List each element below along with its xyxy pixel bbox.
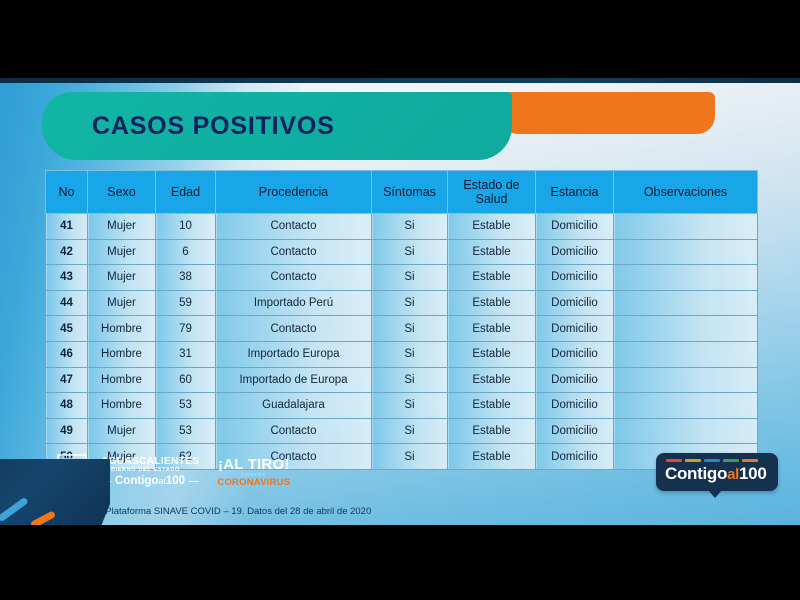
cell-observaciones: [614, 214, 758, 240]
cell-sexo: Mujer: [88, 214, 156, 240]
badge-main: Contigo: [665, 464, 727, 483]
cell-no: 49: [46, 418, 88, 444]
cell-procedencia: Contacto: [216, 214, 372, 240]
slogan-thin: al: [158, 476, 165, 487]
cell-no: 46: [46, 341, 88, 367]
cell-no: 45: [46, 316, 88, 342]
cell-edad: 60: [156, 367, 216, 393]
stripe-green: [723, 459, 739, 462]
cell-estancia: Domicilio: [536, 290, 614, 316]
cell-edad: 59: [156, 290, 216, 316]
table-row: 47Hombre60Importado de EuropaSiEstableDo…: [46, 367, 758, 393]
cell-estancia: Domicilio: [536, 214, 614, 240]
cell-sintomas: Si: [372, 290, 448, 316]
cell-sexo: Mujer: [88, 265, 156, 291]
cell-sintomas: Si: [372, 265, 448, 291]
cell-procedencia: Contacto: [216, 265, 372, 291]
gobierno-estado-wordmark: AGUASCALIENTES GOBIERNO DEL ESTADO Conti…: [101, 457, 199, 487]
slide-top-rule: [0, 78, 800, 83]
gobierno-slogan: Contigoal100: [115, 476, 185, 488]
cell-sintomas: Si: [372, 316, 448, 342]
cell-observaciones: [614, 239, 758, 265]
cell-no: 43: [46, 265, 88, 291]
orange-accent-banner: [500, 92, 715, 134]
cell-estancia: Domicilio: [536, 316, 614, 342]
cell-procedencia: Guadalajara: [216, 393, 372, 419]
cell-estancia: Domicilio: [536, 341, 614, 367]
altiro-coronavirus-logo: ¡AL TIRO! CONTRA CORONAVIRUS: [217, 457, 290, 488]
cell-sexo: Hombre: [88, 393, 156, 419]
cell-observaciones: [614, 341, 758, 367]
cell-estancia: Domicilio: [536, 265, 614, 291]
gobierno-line1: AGUASCALIENTES: [101, 457, 199, 467]
cell-estado: Estable: [448, 239, 536, 265]
stripe-red: [666, 459, 682, 462]
cell-observaciones: [614, 418, 758, 444]
cell-sexo: Hombre: [88, 316, 156, 342]
presentation-slide: CASOS POSITIVOS No Sexo Edad Procedencia…: [0, 78, 800, 525]
cell-sintomas: Si: [372, 393, 448, 419]
cell-sexo: Mujer: [88, 239, 156, 265]
cell-sintomas: Si: [372, 418, 448, 444]
cell-edad: 38: [156, 265, 216, 291]
cell-sintomas: Si: [372, 341, 448, 367]
column-header-sexo: Sexo: [88, 171, 156, 214]
table-header-row: No Sexo Edad Procedencia Síntomas Estado…: [46, 171, 758, 214]
altiro-bottom-text: CORONAVIRUS: [217, 478, 290, 488]
badge-label: Contigoal100: [665, 464, 767, 484]
cell-estado: Estable: [448, 418, 536, 444]
cell-edad: 10: [156, 214, 216, 240]
contigo-al-100-badge: Contigoal100: [656, 453, 778, 491]
cell-sintomas: Si: [372, 367, 448, 393]
cell-estancia: Domicilio: [536, 444, 614, 470]
cell-estancia: Domicilio: [536, 367, 614, 393]
table-row: 49Mujer53ContactoSiEstableDomicilio: [46, 418, 758, 444]
cell-sintomas: Si: [372, 214, 448, 240]
column-header-estancia: Estancia: [536, 171, 614, 214]
screenshot-root: CASOS POSITIVOS No Sexo Edad Procedencia…: [0, 0, 800, 600]
badge-tail: [708, 490, 722, 498]
column-header-observaciones: Observaciones: [614, 171, 758, 214]
stripe-orange: [742, 459, 758, 462]
cell-estado: Estable: [448, 214, 536, 240]
table-row: 44Mujer59Importado PerúSiEstableDomicili…: [46, 290, 758, 316]
cell-procedencia: Contacto: [216, 418, 372, 444]
cell-observaciones: [614, 290, 758, 316]
page-title: CASOS POSITIVOS: [92, 112, 335, 141]
cell-observaciones: [614, 316, 758, 342]
cell-estado: Estable: [448, 265, 536, 291]
table-row: 42Mujer6ContactoSiEstableDomicilio: [46, 239, 758, 265]
cell-no: 42: [46, 239, 88, 265]
cell-sexo: Mujer: [88, 418, 156, 444]
stripe-yellow: [685, 459, 701, 462]
cell-procedencia: Contacto: [216, 316, 372, 342]
cell-observaciones: [614, 265, 758, 291]
column-header-no: No: [46, 171, 88, 214]
cases-table: No Sexo Edad Procedencia Síntomas Estado…: [45, 170, 758, 470]
cell-sexo: Hombre: [88, 367, 156, 393]
cell-sintomas: Si: [372, 444, 448, 470]
table-row: 45Hombre79ContactoSiEstableDomicilio: [46, 316, 758, 342]
cell-estado: Estable: [448, 367, 536, 393]
cell-procedencia: Contacto: [216, 239, 372, 265]
rule-right: [189, 481, 199, 482]
cell-edad: 6: [156, 239, 216, 265]
cell-estado: Estable: [448, 393, 536, 419]
cell-procedencia: Importado Europa: [216, 341, 372, 367]
cell-edad: 79: [156, 316, 216, 342]
cell-no: 48: [46, 393, 88, 419]
cases-table-body: 41Mujer10ContactoSiEstableDomicilio42Muj…: [46, 214, 758, 470]
cell-estancia: Domicilio: [536, 418, 614, 444]
column-header-sintomas: Síntomas: [372, 171, 448, 214]
table-row: 43Mujer38ContactoSiEstableDomicilio: [46, 265, 758, 291]
cell-sexo: Hombre: [88, 341, 156, 367]
cell-no: 47: [46, 367, 88, 393]
cell-estado: Estable: [448, 444, 536, 470]
cell-sexo: Mujer: [88, 290, 156, 316]
table-row: 46Hombre31Importado EuropaSiEstableDomic…: [46, 341, 758, 367]
badge-num: 100: [739, 464, 766, 483]
cell-sintomas: Si: [372, 239, 448, 265]
cell-observaciones: [614, 367, 758, 393]
decorative-corner-graphic: [0, 449, 110, 525]
cell-estado: Estable: [448, 341, 536, 367]
cell-edad: 31: [156, 341, 216, 367]
slogan-num: 100: [166, 475, 185, 487]
cell-no: 44: [46, 290, 88, 316]
table-row: 48Hombre53GuadalajaraSiEstableDomicilio: [46, 393, 758, 419]
gobierno-slogan-row: Contigoal100: [101, 476, 199, 488]
cell-no: 41: [46, 214, 88, 240]
cell-observaciones: [614, 393, 758, 419]
cell-estado: Estable: [448, 290, 536, 316]
badge-color-stripes: [666, 459, 758, 462]
altiro-top-text: ¡AL TIRO!: [217, 457, 290, 472]
cell-estado: Estable: [448, 316, 536, 342]
column-header-procedencia: Procedencia: [216, 171, 372, 214]
gobierno-line2: GOBIERNO DEL ESTADO: [101, 468, 199, 474]
slogan-main: Contigo: [115, 475, 158, 487]
cell-procedencia: Importado Perú: [216, 290, 372, 316]
badge-al: al: [727, 466, 739, 483]
cell-procedencia: Importado de Europa: [216, 367, 372, 393]
column-header-estado-salud: Estado de Salud: [448, 171, 536, 214]
table-row: 41Mujer10ContactoSiEstableDomicilio: [46, 214, 758, 240]
cell-edad: 53: [156, 393, 216, 419]
cell-estancia: Domicilio: [536, 393, 614, 419]
cell-edad: 53: [156, 418, 216, 444]
cases-table-container: No Sexo Edad Procedencia Síntomas Estado…: [45, 170, 757, 470]
stripe-blue: [704, 459, 720, 462]
cell-estancia: Domicilio: [536, 239, 614, 265]
column-header-edad: Edad: [156, 171, 216, 214]
